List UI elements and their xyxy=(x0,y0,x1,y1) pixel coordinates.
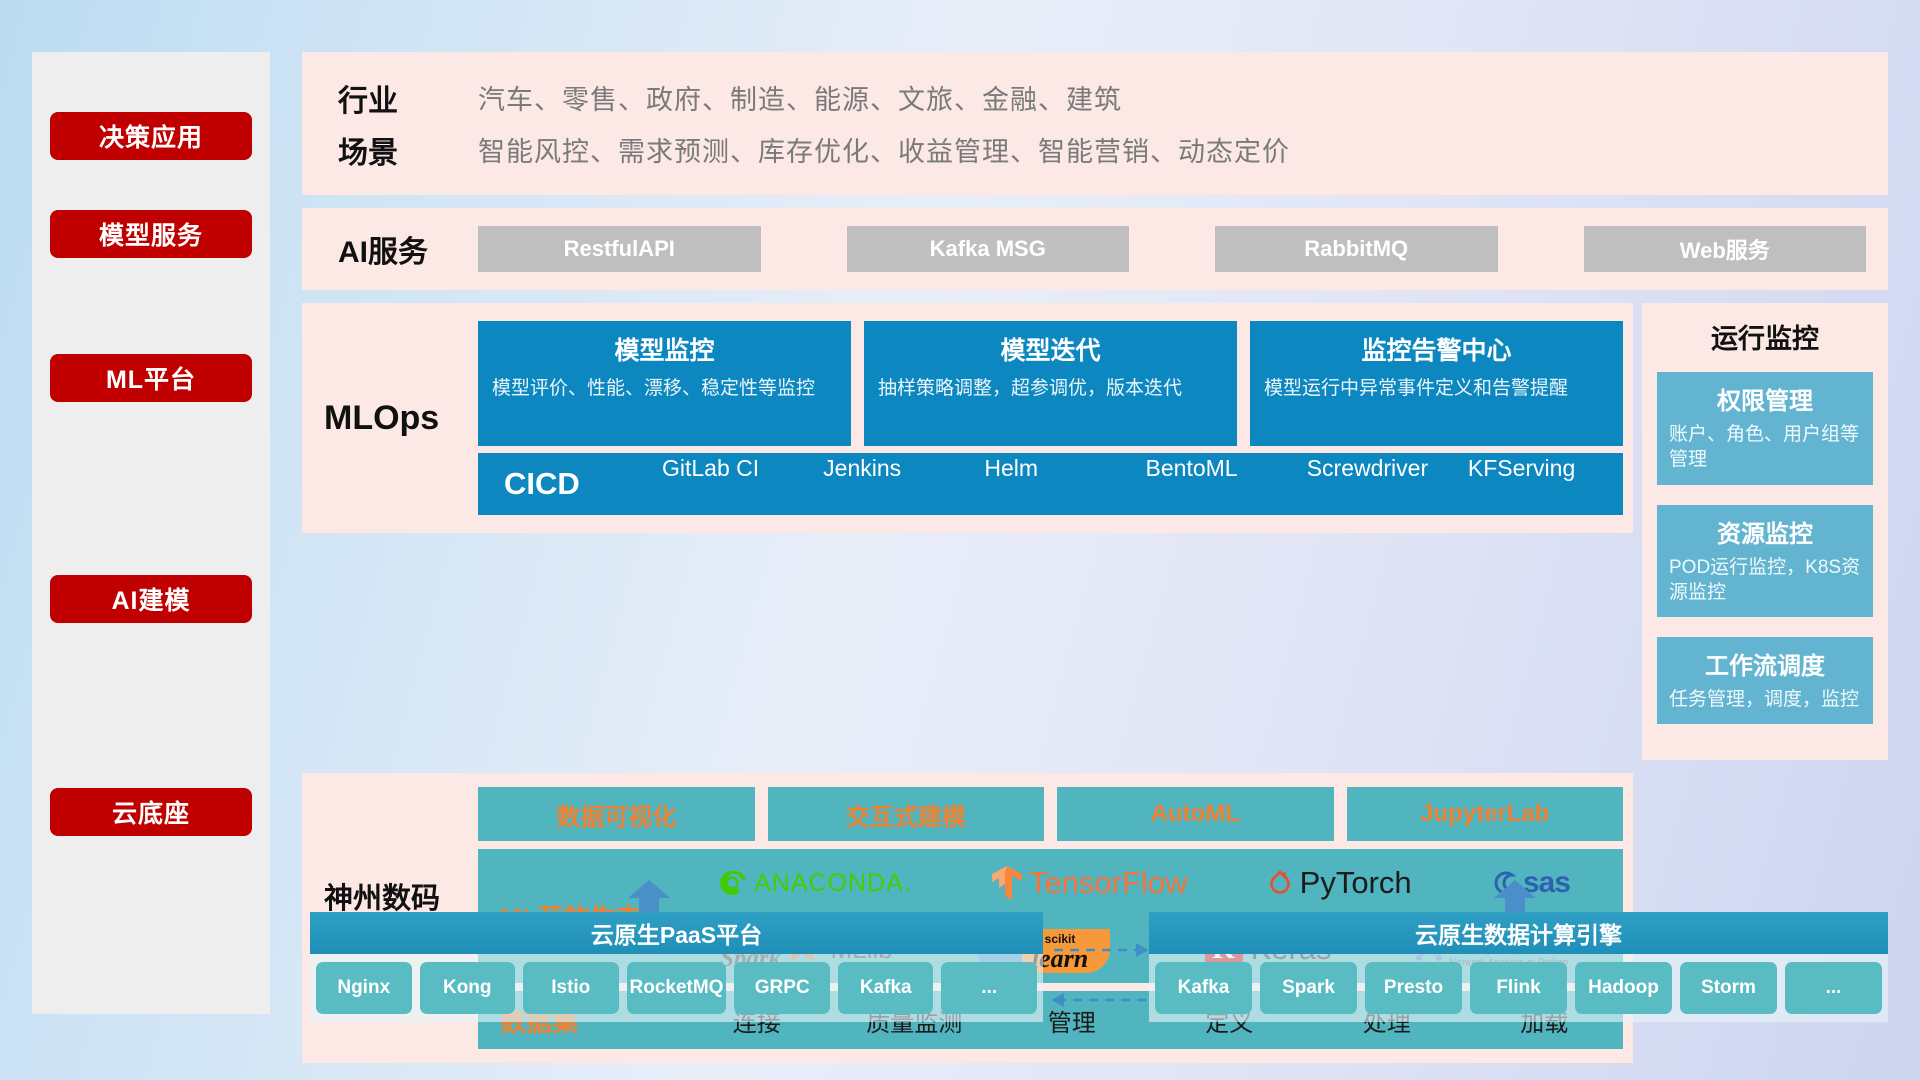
rail-item-ai-modeling[interactable]: AI建模 xyxy=(50,575,252,623)
tab-jupyterlab[interactable]: JupyterLab xyxy=(1347,787,1624,841)
cicd-item-screwdriver[interactable]: Screwdriver xyxy=(1301,453,1462,515)
industry-line: 行业 汽车、零售、政府、制造、能源、文旅、金融、建筑 xyxy=(338,72,1888,124)
card-desc: 抽样策略调整，超参调优，版本迭代 xyxy=(878,376,1223,401)
tab-interactive-modeling[interactable]: 交互式建模 xyxy=(768,787,1045,841)
rail-label: 决策应用 xyxy=(99,118,203,154)
data-compute-engine-group: 云原生数据计算引擎 Kafka Spark Presto Flink Hadoo… xyxy=(1149,912,1888,1022)
card-desc: 账户、角色、用户组等管理 xyxy=(1669,422,1861,473)
tab-automl[interactable]: AutoML xyxy=(1057,787,1334,841)
tab-data-visualization[interactable]: 数据可视化 xyxy=(478,787,755,841)
cicd-bar: CICD GitLab CI Jenkins Helm BentoML Scre… xyxy=(478,453,1623,515)
cicd-item-helm[interactable]: Helm xyxy=(978,453,1139,515)
rail-label: 模型服务 xyxy=(99,216,203,252)
rail-item-ml-platform[interactable]: ML平台 xyxy=(50,354,252,402)
monitor-card-permissions[interactable]: 权限管理 账户、角色、用户组等管理 xyxy=(1657,372,1873,485)
service-chip-restfulapi[interactable]: RestfulAPI xyxy=(478,226,761,272)
compute-chip-more[interactable]: ... xyxy=(1785,962,1882,1014)
paas-platform-group: 云原生PaaS平台 Nginx Kong Istio RocketMQ GRPC… xyxy=(310,912,1043,1022)
industry-values: 汽车、零售、政府、制造、能源、文旅、金融、建筑 xyxy=(478,78,1122,117)
card-title: 监控告警中心 xyxy=(1264,331,1609,367)
rail-item-decision-apps[interactable]: 决策应用 xyxy=(50,112,252,160)
card-desc: POD运行监控，K8S资源监控 xyxy=(1669,555,1861,606)
mlops-card-model-iteration[interactable]: 模型迭代 抽样策略调整，超参调优，版本迭代 xyxy=(864,321,1237,446)
card-title: 工作流调度 xyxy=(1669,646,1861,681)
mlops-label: MLOps xyxy=(324,399,478,438)
cicd-item-row: GitLab CI Jenkins Helm BentoML Screwdriv… xyxy=(656,453,1623,515)
card-desc: 模型运行中异常事件定义和告警提醒 xyxy=(1264,376,1609,401)
paas-chip-grpc[interactable]: GRPC xyxy=(734,962,830,1014)
service-chip-web[interactable]: Web服务 xyxy=(1584,226,1867,272)
compute-chip-spark[interactable]: Spark xyxy=(1260,962,1357,1014)
data-compute-engine-title: 云原生数据计算引擎 xyxy=(1149,912,1888,954)
cicd-item-gitlab-ci[interactable]: GitLab CI xyxy=(656,453,817,515)
card-title: 模型迭代 xyxy=(878,331,1223,367)
mlops-card-alert-center[interactable]: 监控告警中心 模型运行中异常事件定义和告警提醒 xyxy=(1250,321,1623,446)
rail-label: ML平台 xyxy=(106,360,196,396)
compute-chip-storm[interactable]: Storm xyxy=(1680,962,1777,1014)
monitor-card-workflow[interactable]: 工作流调度 任务管理，调度，监控 xyxy=(1657,637,1873,724)
paas-chip-kong[interactable]: Kong xyxy=(420,962,516,1014)
paas-chip-row: Nginx Kong Istio RocketMQ GRPC Kafka ... xyxy=(310,954,1043,1022)
cicd-item-kfserving[interactable]: KFServing xyxy=(1462,453,1623,515)
rail-item-cloud-foundation[interactable]: 云底座 xyxy=(50,788,252,836)
scenario-line: 场景 智能风控、需求预测、库存优化、收益管理、智能营销、动态定价 xyxy=(338,124,1888,176)
paas-chip-istio[interactable]: Istio xyxy=(523,962,619,1014)
mlops-card-row: 模型监控 模型评价、性能、漂移、稳定性等监控 模型迭代 抽样策略调整，超参调优，… xyxy=(478,321,1623,446)
ai-service-chip-row: RestfulAPI Kafka MSG RabbitMQ Web服务 xyxy=(478,226,1866,272)
ml-lab-tab-row: 数据可视化 交互式建模 AutoML JupyterLab xyxy=(478,787,1623,841)
compute-chip-hadoop[interactable]: Hadoop xyxy=(1575,962,1672,1014)
rail-label: AI建模 xyxy=(111,581,190,617)
scenario-values: 智能风控、需求预测、库存优化、收益管理、智能营销、动态定价 xyxy=(478,130,1290,169)
paas-chip-nginx[interactable]: Nginx xyxy=(316,962,412,1014)
ai-service-label: AI服务 xyxy=(338,227,478,271)
card-title: 资源监控 xyxy=(1669,514,1861,549)
service-chip-rabbitmq[interactable]: RabbitMQ xyxy=(1215,226,1498,272)
rail-item-model-service[interactable]: 模型服务 xyxy=(50,210,252,258)
industry-label: 行业 xyxy=(338,76,478,120)
runtime-monitor-sidebar: 运行监控 权限管理 账户、角色、用户组等管理 资源监控 POD运行监控，K8S资… xyxy=(1642,303,1888,760)
rail-label: 云底座 xyxy=(112,794,190,830)
ml-platform-row: MLOps 模型监控 模型评价、性能、漂移、稳定性等监控 模型迭代 抽样策略调整… xyxy=(302,303,1888,760)
decision-apps-band: 行业 汽车、零售、政府、制造、能源、文旅、金融、建筑 场景 智能风控、需求预测、… xyxy=(302,52,1888,195)
paas-chip-kafka[interactable]: Kafka xyxy=(838,962,934,1014)
card-desc: 任务管理，调度，监控 xyxy=(1669,687,1861,712)
paas-chip-rocketmq[interactable]: RocketMQ xyxy=(627,962,727,1014)
cloud-foundation-row: 云原生PaaS平台 Nginx Kong Istio RocketMQ GRPC… xyxy=(302,890,1888,1050)
scenario-label: 场景 xyxy=(338,128,478,172)
cicd-label: CICD xyxy=(504,466,656,502)
cicd-item-jenkins[interactable]: Jenkins xyxy=(817,453,978,515)
bidirectional-connector xyxy=(1050,934,1150,1020)
compute-chip-presto[interactable]: Presto xyxy=(1365,962,1462,1014)
mlops-content: 模型监控 模型评价、性能、漂移、稳定性等监控 模型迭代 抽样策略调整，超参调优，… xyxy=(478,321,1633,515)
cicd-item-bentoml[interactable]: BentoML xyxy=(1140,453,1301,515)
mlops-card-model-monitoring[interactable]: 模型监控 模型评价、性能、漂移、稳定性等监控 xyxy=(478,321,851,446)
card-title: 权限管理 xyxy=(1669,381,1861,416)
monitor-card-resources[interactable]: 资源监控 POD运行监控，K8S资源监控 xyxy=(1657,505,1873,618)
paas-chip-more[interactable]: ... xyxy=(941,962,1037,1014)
sidebar-title: 运行监控 xyxy=(1657,317,1873,356)
card-title: 模型监控 xyxy=(492,331,837,367)
ai-service-band: AI服务 RestfulAPI Kafka MSG RabbitMQ Web服务 xyxy=(302,208,1888,290)
compute-chip-flink[interactable]: Flink xyxy=(1470,962,1567,1014)
mlops-band: MLOps 模型监控 模型评价、性能、漂移、稳定性等监控 模型迭代 抽样策略调整… xyxy=(302,303,1633,533)
service-chip-kafka-msg[interactable]: Kafka MSG xyxy=(847,226,1130,272)
card-desc: 模型评价、性能、漂移、稳定性等监控 xyxy=(492,376,837,401)
compute-chip-kafka[interactable]: Kafka xyxy=(1155,962,1252,1014)
paas-platform-title: 云原生PaaS平台 xyxy=(310,912,1043,954)
layer-rail: 决策应用 模型服务 ML平台 AI建模 云底座 xyxy=(32,52,270,1014)
compute-chip-row: Kafka Spark Presto Flink Hadoop Storm ..… xyxy=(1149,954,1888,1022)
